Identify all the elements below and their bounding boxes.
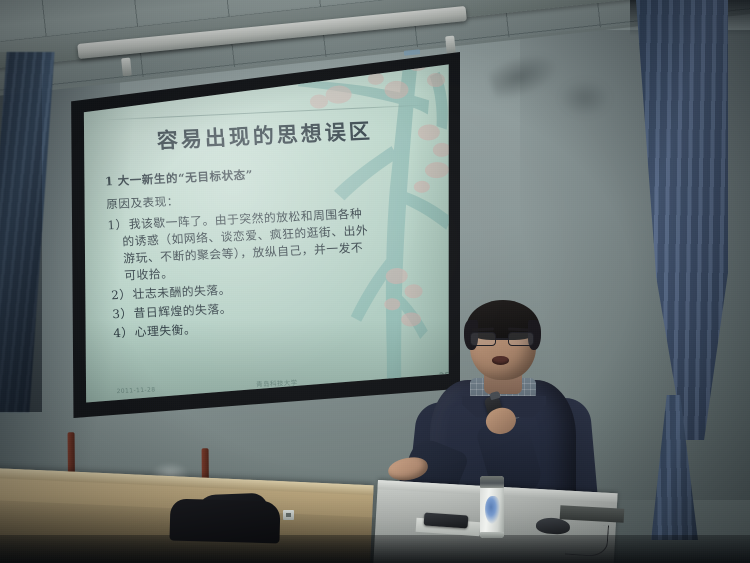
floor-shadow xyxy=(0,535,750,563)
glasses-lens-left xyxy=(470,332,496,346)
wall-smudge-secondary xyxy=(560,80,610,116)
bullet-line: 昔日辉煌的失落。 xyxy=(133,302,232,321)
curtain-left-shadow xyxy=(0,52,42,412)
cup-lid xyxy=(480,476,504,488)
thermos-cup[interactable] xyxy=(480,476,504,538)
cup-base xyxy=(480,532,504,538)
roller-bracket-right xyxy=(445,36,456,55)
slide-footer-date: 2011-11-28 xyxy=(116,386,155,395)
bullet-line: 壮志未酬的失落。 xyxy=(132,283,231,302)
glasses-lens-right xyxy=(508,332,534,346)
slide-bullet-1: 1）我该歇一阵了。由于突然的放松和周围各种 的诱惑（如网络、谈恋爱、疯狂的逛街、… xyxy=(107,205,382,285)
bullet-line: 心理失衡。 xyxy=(134,322,196,339)
bullet-marker: 4） xyxy=(113,325,134,340)
presenter-mouth xyxy=(492,356,509,365)
bag-on-table[interactable] xyxy=(169,499,280,544)
bullet-marker: 3） xyxy=(112,306,133,321)
cup-blue-pattern xyxy=(485,496,500,524)
bullet-marker: 1） xyxy=(107,217,128,232)
photo-scene: 容易出现的思想误区 1大一新生的“无目标状态” 原因及表现： 1）我该歇一阵了。… xyxy=(0,0,750,563)
bullet-marker: 2） xyxy=(111,287,132,302)
glasses-icon xyxy=(468,332,538,347)
slide-heading-number: 1 xyxy=(105,174,114,188)
roller-bracket-left xyxy=(121,58,132,77)
wall-power-outlet[interactable] xyxy=(283,510,294,520)
slide-heading-text: 大一新生的“无目标状态” xyxy=(117,168,253,188)
slide-body: 1大一新生的“无目标状态” 原因及表现： 1）我该歇一阵了。由于突然的放松和周围… xyxy=(105,160,414,345)
glasses-bridge xyxy=(496,338,508,340)
